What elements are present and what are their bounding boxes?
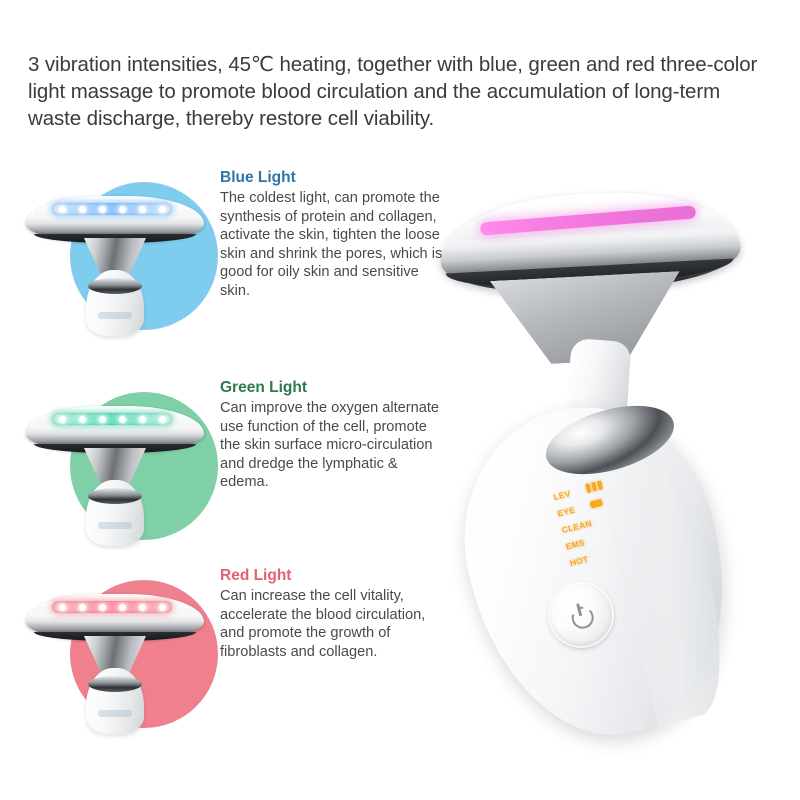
device-brandmark — [98, 312, 132, 319]
led-strip-red — [52, 601, 172, 613]
feature-title-blue: Blue Light — [220, 168, 446, 188]
mini-device-blue — [22, 190, 208, 340]
feature-blue-light: Blue Light The coldest light, can promot… — [0, 168, 460, 353]
led-dot — [159, 604, 166, 611]
led-dot — [79, 206, 86, 213]
thumbnail-green-light — [22, 378, 208, 563]
device-brandmark — [98, 522, 132, 529]
led-dot — [139, 416, 146, 423]
led-strip-green — [52, 413, 172, 425]
led-dot — [159, 416, 166, 423]
led-dot — [119, 604, 126, 611]
feature-text-green: Green Light Can improve the oxygen alter… — [220, 378, 446, 492]
device-chrome-ring — [88, 676, 142, 692]
led-dot — [159, 206, 166, 213]
led-dot — [79, 416, 86, 423]
feature-body-green: Can improve the oxygen alternate use fun… — [220, 399, 446, 492]
feature-title-green: Green Light — [220, 378, 446, 398]
led-dot — [99, 416, 106, 423]
led-dot — [59, 604, 66, 611]
mini-device-green — [22, 400, 208, 550]
led-dot — [79, 604, 86, 611]
eye-chip-icon — [590, 499, 603, 509]
led-dot — [59, 416, 66, 423]
device-chrome-ring — [88, 488, 142, 504]
power-icon — [566, 600, 595, 629]
led-dot — [99, 604, 106, 611]
led-dot — [139, 206, 146, 213]
thumbnail-blue-light — [22, 168, 208, 353]
feature-green-light: Green Light Can improve the oxygen alter… — [0, 378, 460, 563]
infographic-page: 3 vibration intensities, 45℃ heating, to… — [0, 0, 800, 800]
feature-red-light: Red Light Can increase the cell vitality… — [0, 566, 460, 751]
thumbnail-red-light — [22, 566, 208, 751]
indicator-label-hot: HOT — [569, 551, 601, 568]
hero-device-image: LEV EYE CLEAN EMS HOT — [432, 180, 792, 750]
led-dot — [99, 206, 106, 213]
feature-body-blue: The coldest light, can promote the synth… — [220, 189, 446, 301]
led-strip-blue — [52, 203, 172, 215]
led-dot — [119, 206, 126, 213]
led-dot — [119, 416, 126, 423]
mini-device-red — [22, 588, 208, 738]
feature-text-blue: Blue Light The coldest light, can promot… — [220, 168, 446, 301]
intro-paragraph: 3 vibration intensities, 45℃ heating, to… — [28, 51, 770, 132]
feature-body-red: Can increase the cell vitality, accelera… — [220, 587, 446, 661]
device-chrome-ring — [88, 278, 142, 294]
device-brandmark — [98, 710, 132, 717]
led-dot — [139, 604, 146, 611]
feature-text-red: Red Light Can increase the cell vitality… — [220, 566, 446, 661]
level-bars-icon — [585, 480, 603, 493]
feature-title-red: Red Light — [220, 566, 446, 586]
led-dot — [59, 206, 66, 213]
